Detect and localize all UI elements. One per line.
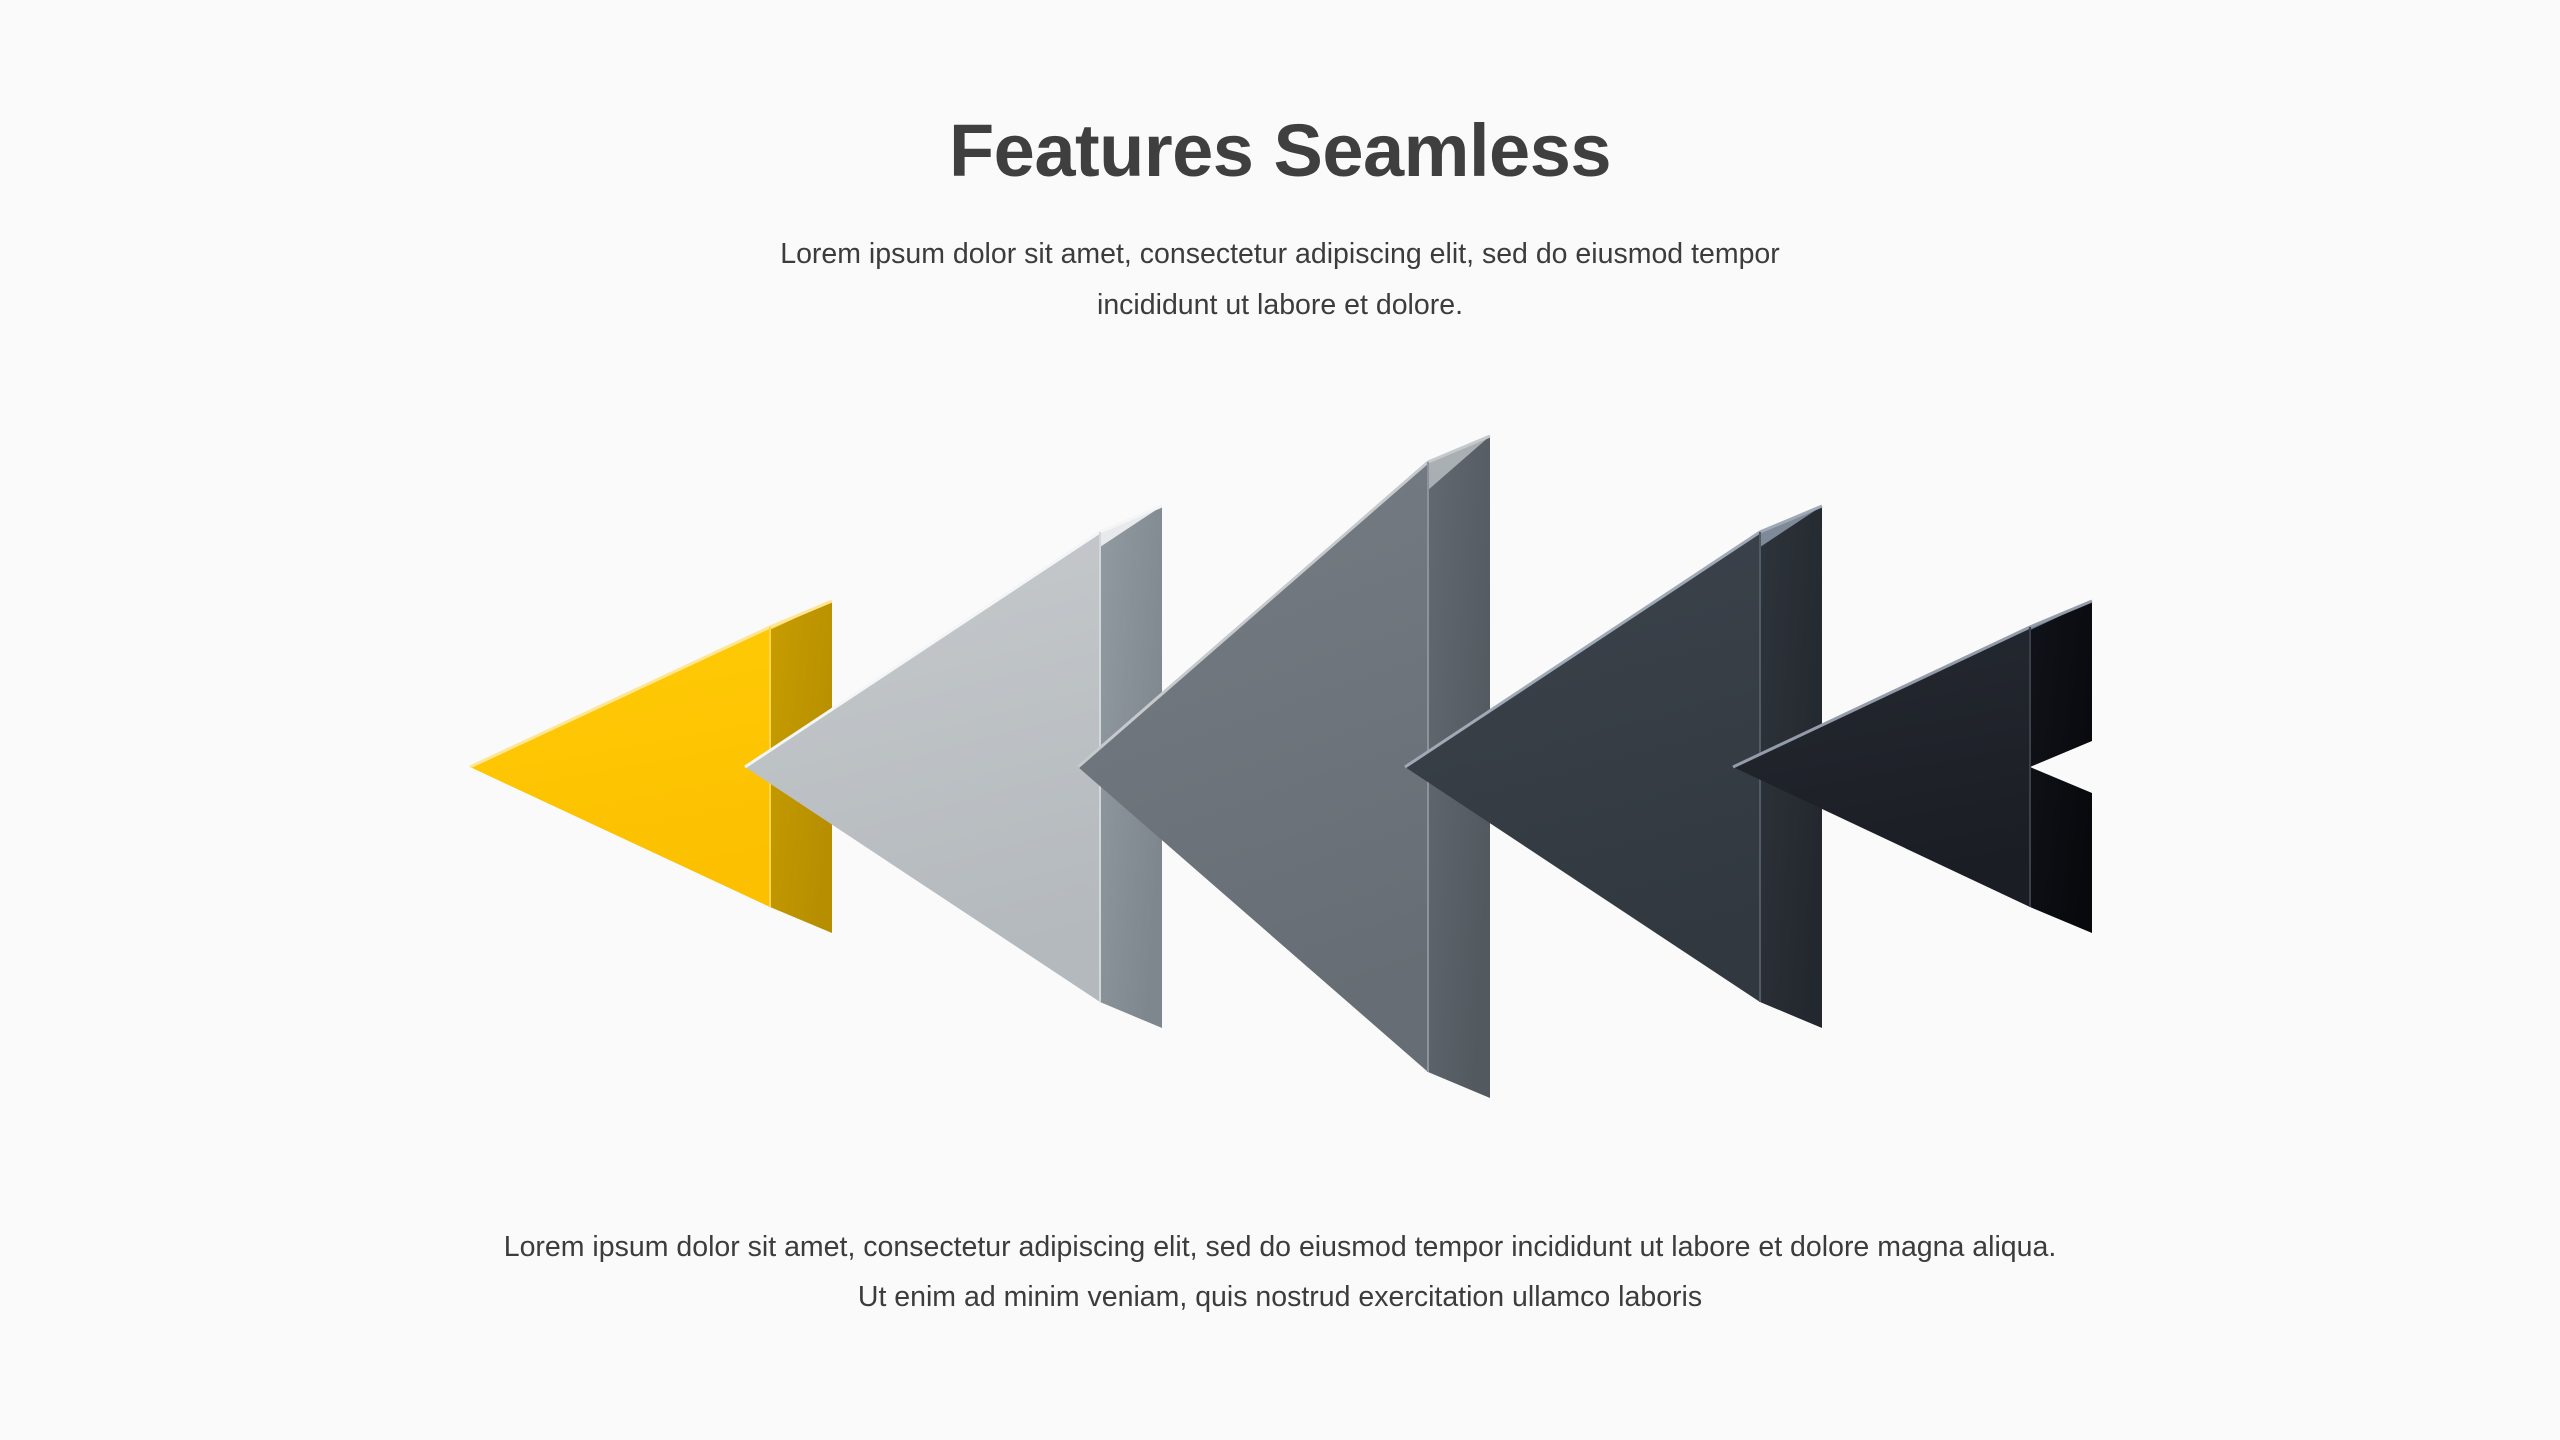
footer-line-1: Lorem ipsum dolor sit amet, consectetur … xyxy=(0,1222,2560,1272)
chevron-block-light-gray-front-face xyxy=(745,532,1100,1002)
page-subtitle: Lorem ipsum dolor sit amet, consectetur … xyxy=(645,229,1915,330)
header-block: Features Seamless Lorem ipsum dolor sit … xyxy=(0,110,2560,331)
footer-block: Lorem ipsum dolor sit amet, consectetur … xyxy=(0,1222,2560,1322)
chevron-blocks-svg xyxy=(0,430,2560,1110)
subtitle-line-1: Lorem ipsum dolor sit amet, consectetur … xyxy=(780,238,1780,270)
slide-root: Features Seamless Lorem ipsum dolor sit … xyxy=(0,0,2560,1440)
subtitle-line-2: incididunt ut labore et dolore. xyxy=(1097,289,1463,321)
footer-line-2: Ut enim ad minim veniam, quis nostrud ex… xyxy=(0,1272,2560,1322)
chevron-block-dark-side-face xyxy=(2030,601,2092,933)
chevron-blocks-diagram xyxy=(0,430,2560,1110)
page-title: Features Seamless xyxy=(0,110,2560,191)
chevron-block-yellow-front-face xyxy=(470,627,770,907)
